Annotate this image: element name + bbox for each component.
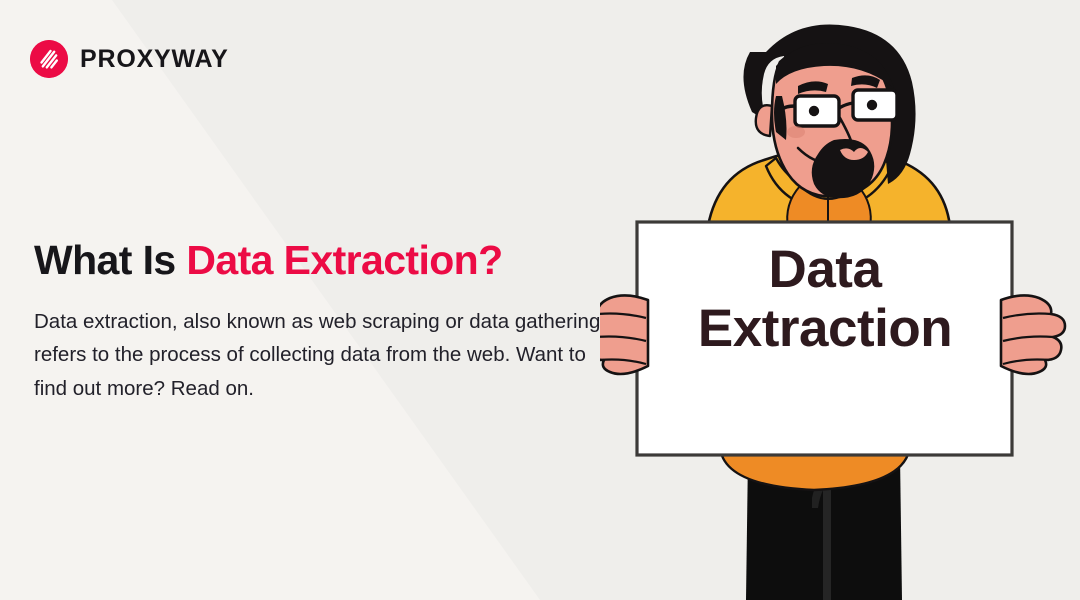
brand-name: PROXYWAY	[80, 47, 229, 72]
sign-board	[637, 222, 1012, 455]
left-hand-shape	[600, 295, 648, 374]
man-holding-sign-illustration	[600, 0, 1080, 600]
brand-logo[interactable]: PROXYWAY	[30, 40, 229, 78]
hero-body-text: Data extraction, also known as web scrap…	[34, 305, 614, 405]
page-title: What Is Data Extraction?	[34, 238, 614, 283]
headline-accent-part: Data Extraction?	[186, 237, 502, 283]
headline-plain-part: What Is	[34, 237, 186, 283]
proxyway-circle-mark-icon	[30, 40, 68, 78]
right-hand-shape	[1001, 295, 1065, 374]
poster-canvas: PROXYWAY What Is Data Extraction? Data e…	[0, 0, 1080, 600]
hero-copy: What Is Data Extraction? Data extraction…	[34, 238, 614, 405]
